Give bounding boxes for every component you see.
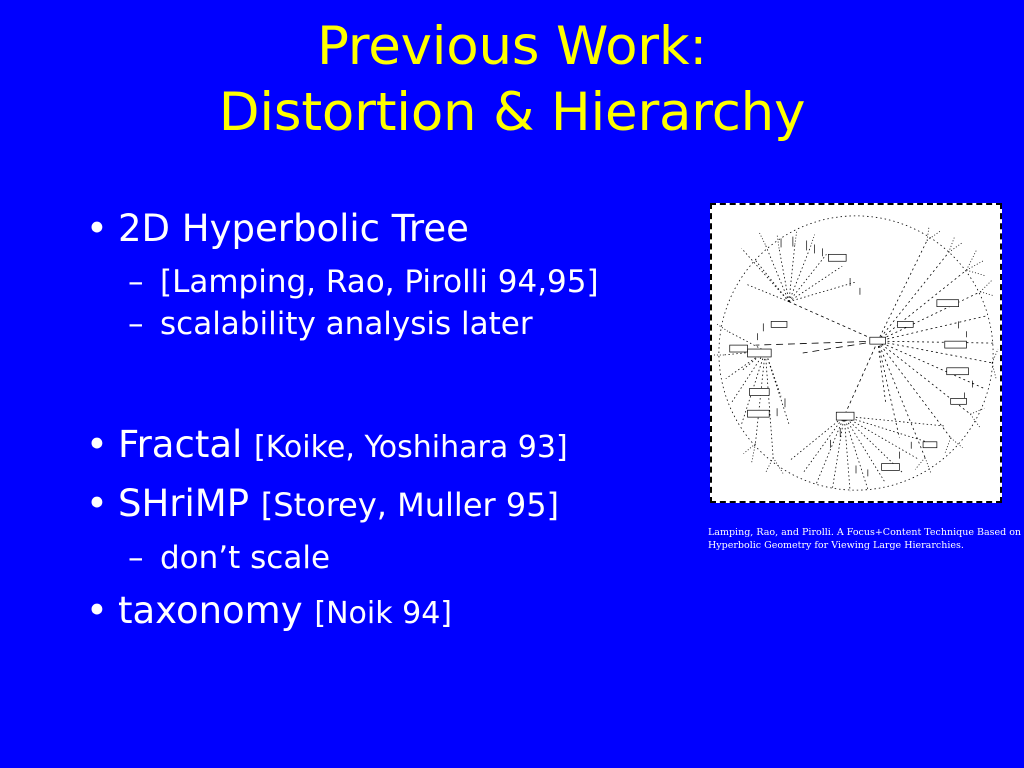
bullet-fractal: • Fractal [Koike, Yoshihara 93] — [78, 421, 698, 472]
subbullet-dont-scale: – don’t scale — [78, 537, 698, 579]
hyperbolic-tree-figure — [710, 203, 1002, 503]
subbullet-scalability-analysis-later: – scalability analysis later — [78, 303, 698, 345]
bullet-dot-icon: • — [86, 421, 108, 469]
bullet-citation: [Koike, Yoshihara 93] — [254, 430, 568, 465]
page-title: Previous Work: Distortion & Hierarchy — [0, 14, 1024, 146]
bullet-dot-icon: • — [86, 205, 108, 253]
bullet-dash-icon: – — [128, 537, 144, 579]
bullet-list: • 2D Hyperbolic Tree – [Lamping, Rao, Pi… — [78, 205, 698, 638]
spacer — [78, 472, 698, 480]
bullet-label: SHriMP — [118, 482, 261, 525]
bullet-label: 2D Hyperbolic Tree — [118, 207, 469, 250]
title-line-1: Previous Work: — [0, 14, 1024, 80]
hyperbolic-tree-image — [712, 205, 1000, 501]
bullet-citation: [Noik 94] — [314, 596, 452, 631]
bullet-label: taxonomy — [118, 589, 314, 632]
bullet-taxonomy: • taxonomy [Noik 94] — [78, 587, 698, 638]
slide: Previous Work: Distortion & Hierarchy • … — [0, 0, 1024, 768]
bullet-shrimp: • SHriMP [Storey, Muller 95] — [78, 480, 698, 529]
bullet-label: Fractal — [118, 423, 254, 466]
figure-frame — [710, 203, 1002, 503]
bullet-dot-icon: • — [86, 480, 108, 528]
spacer — [78, 345, 698, 421]
subbullet-label: [Lamping, Rao, Pirolli 94,95] — [160, 264, 599, 300]
title-line-2: Distortion & Hierarchy — [0, 80, 1024, 146]
spacer — [78, 579, 698, 587]
figure-caption-line-2: Hyperbolic Geometry for Viewing Large Hi… — [708, 540, 1008, 553]
figure-caption-line-1: Lamping, Rao, and Pirolli. A Focus+Conte… — [708, 527, 1008, 540]
subbullet-lamping-rao-pirolli: – [Lamping, Rao, Pirolli 94,95] — [78, 261, 698, 303]
spacer — [78, 529, 698, 537]
bullet-2d-hyperbolic-tree: • 2D Hyperbolic Tree — [78, 205, 698, 253]
bullet-citation: [Storey, Muller 95] — [261, 486, 559, 524]
figure-caption: Lamping, Rao, and Pirolli. A Focus+Conte… — [708, 527, 1008, 552]
bullet-dash-icon: – — [128, 303, 144, 345]
bullet-dash-icon: – — [128, 261, 144, 303]
subbullet-label: don’t scale — [160, 540, 330, 576]
subbullet-label: scalability analysis later — [160, 306, 533, 342]
spacer — [78, 253, 698, 261]
bullet-dot-icon: • — [86, 587, 108, 635]
